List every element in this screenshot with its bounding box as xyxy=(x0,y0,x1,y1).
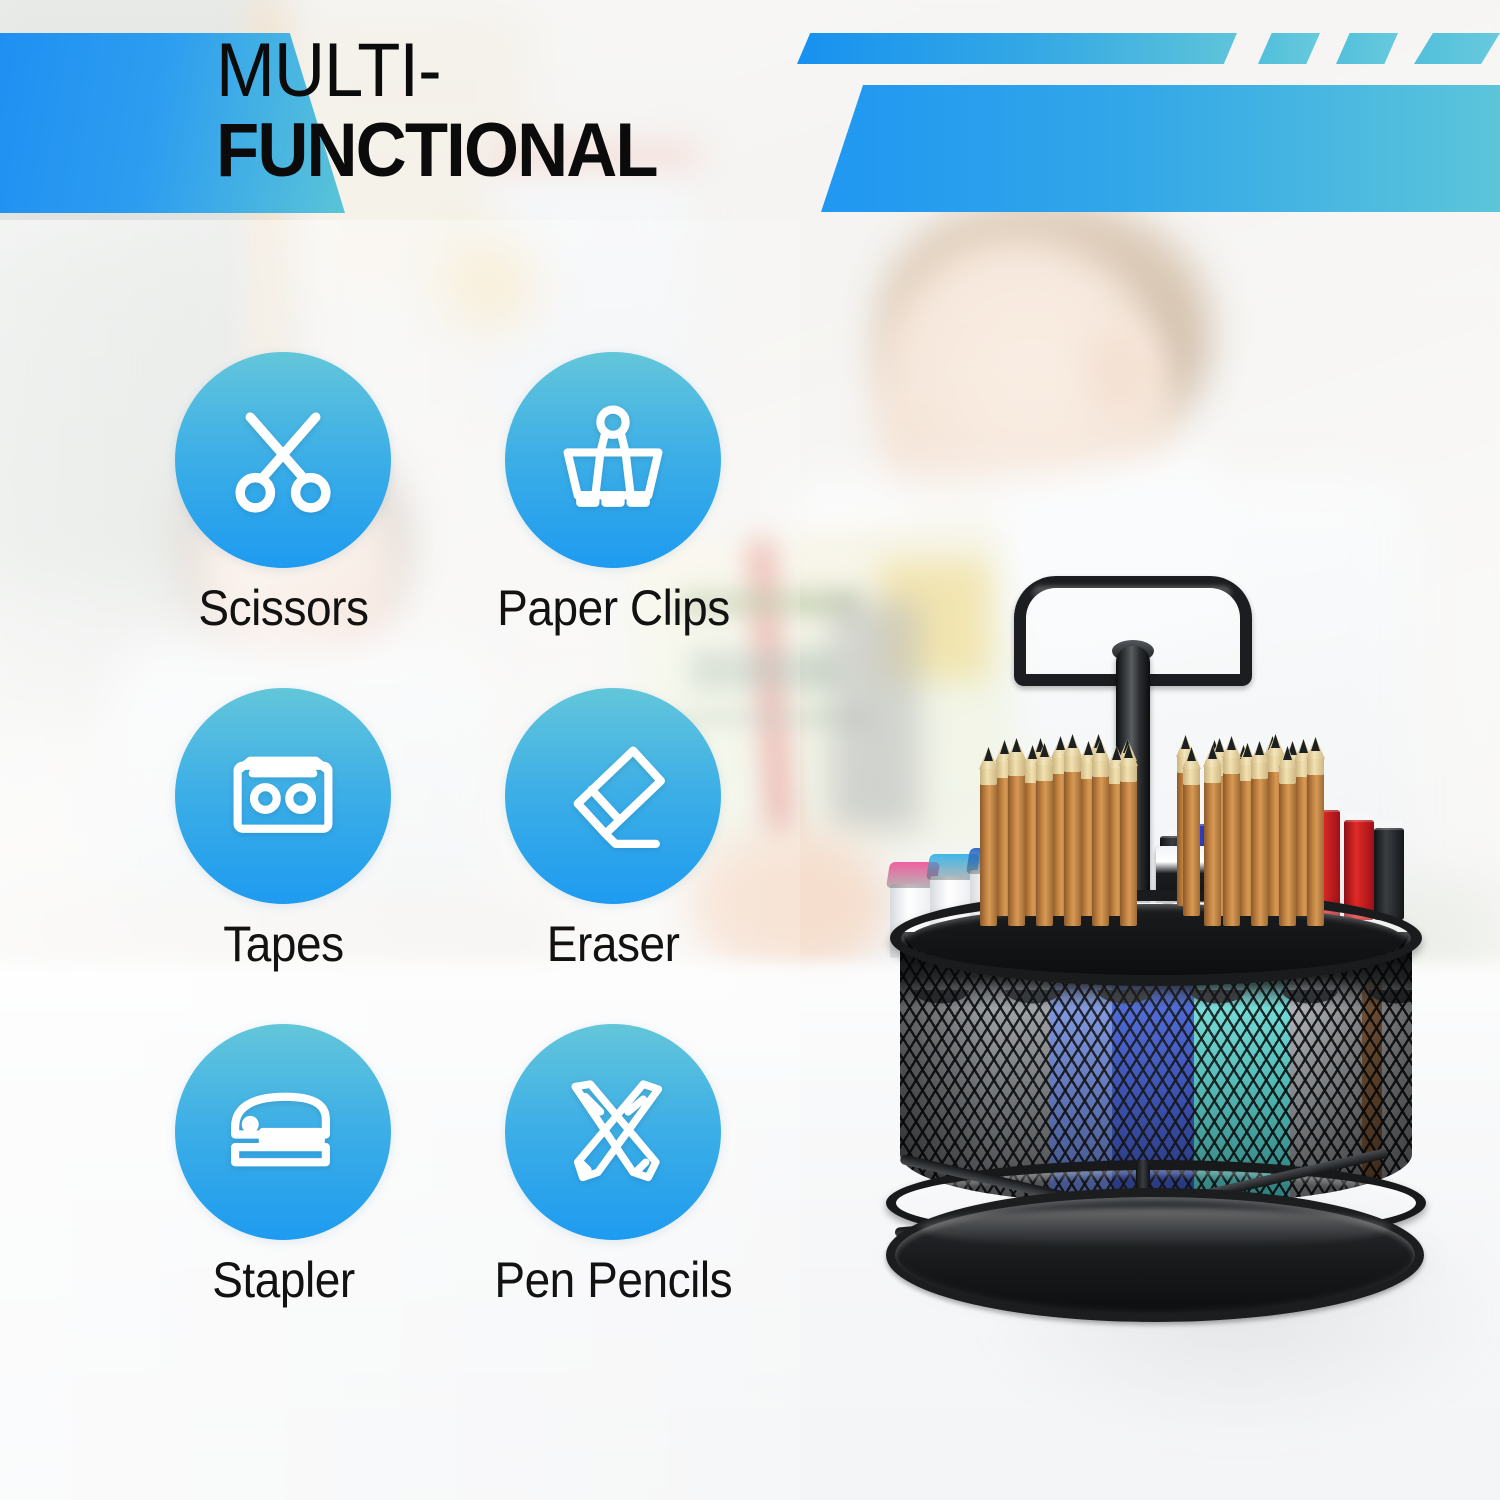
top-rim xyxy=(890,890,1422,986)
handle-highlight xyxy=(1032,586,1232,602)
pencil xyxy=(1183,783,1200,916)
pencil xyxy=(1307,773,1324,926)
pencil xyxy=(1092,775,1109,926)
pencil xyxy=(980,783,997,926)
feature-item-scissors[interactable]: Scissors xyxy=(118,352,448,636)
feature-item-stapler[interactable]: Stapler xyxy=(118,1024,448,1308)
feature-label: Pen Pencils xyxy=(494,1252,732,1308)
feature-row-2: Tapes Eraser xyxy=(118,688,778,972)
title-line-1: MULTI- xyxy=(216,33,811,109)
header-banner: MULTI- FUNCTIONAL xyxy=(0,0,1500,235)
marker xyxy=(1374,828,1404,920)
feature-item-tapes[interactable]: Tapes xyxy=(118,688,448,972)
pencil xyxy=(1064,770,1081,926)
tape-dispenser-icon xyxy=(220,733,346,859)
feature-icon-circle xyxy=(175,1024,391,1240)
feature-row-1: Scissors Paper Clips xyxy=(118,352,778,636)
feature-icon-circle xyxy=(175,688,391,904)
banner-thick-bar xyxy=(800,85,1500,212)
scissors-icon xyxy=(220,397,346,523)
banner-dash-1 xyxy=(1258,33,1320,64)
binder-clip-icon xyxy=(550,397,676,523)
product-image xyxy=(860,560,1460,1340)
feature-label: Tapes xyxy=(223,916,343,972)
feature-label: Eraser xyxy=(547,916,680,972)
feature-item-paper-clips[interactable]: Paper Clips xyxy=(448,352,778,636)
marker-cap xyxy=(1345,811,1373,822)
feature-label: Stapler xyxy=(212,1252,355,1308)
product-infographic: MULTI- FUNCTIONAL Scissors xyxy=(0,0,1500,1500)
page-title: MULTI- FUNCTIONAL xyxy=(216,33,856,193)
banner-dash-3 xyxy=(1414,33,1500,64)
banner-dash-2 xyxy=(1336,33,1398,64)
feature-icon-circle xyxy=(505,352,721,568)
pencil xyxy=(1251,777,1268,926)
feature-item-eraser[interactable]: Eraser xyxy=(448,688,778,972)
feature-label: Scissors xyxy=(198,580,368,636)
pencil xyxy=(1120,780,1137,926)
eraser-icon xyxy=(550,733,676,859)
feature-item-pen-pencils[interactable]: Pen Pencils xyxy=(448,1024,778,1308)
feature-icon-circle xyxy=(505,688,721,904)
feature-label: Paper Clips xyxy=(497,580,730,636)
feature-grid: Scissors Paper Clips xyxy=(118,352,778,1308)
pencil xyxy=(1008,774,1025,926)
pencil xyxy=(1204,781,1221,926)
feature-row-3: Stapler Pen Pencils xyxy=(118,1024,778,1308)
feature-icon-circle xyxy=(505,1024,721,1240)
base-highlight xyxy=(920,1208,1390,1248)
feature-icon-circle xyxy=(175,352,391,568)
pencil xyxy=(1223,772,1240,926)
pencil xyxy=(1036,779,1053,926)
stapler-icon xyxy=(220,1069,346,1195)
banner-thin-bar xyxy=(797,33,1237,64)
title-line-2: FUNCTIONAL xyxy=(216,109,811,193)
pen-pencil-cross-icon xyxy=(550,1069,676,1195)
pencil xyxy=(1279,782,1296,926)
marker-cap xyxy=(1375,819,1403,830)
